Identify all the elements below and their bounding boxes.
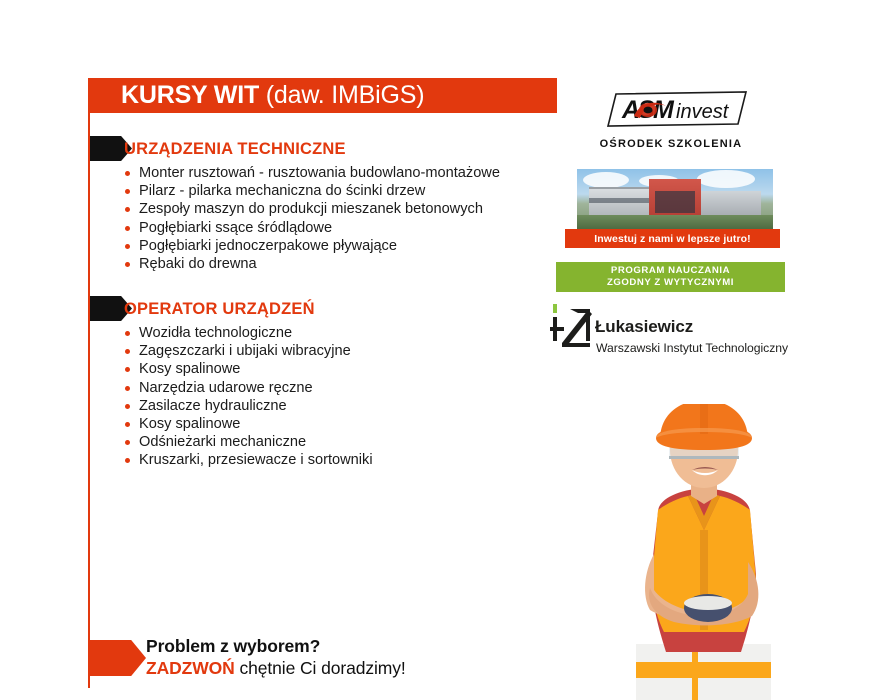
- section-urzadzenia-techniczne: URZĄDZENIA TECHNICZNE Monter rusztowań -…: [124, 140, 500, 273]
- page-title: KURSY WIT (daw. IMBiGS): [88, 81, 424, 110]
- list-item: Rębaki do drewna: [124, 255, 500, 273]
- list-item: Pogłębiarki ssące śródlądowe: [124, 219, 500, 237]
- lukasiewicz-logo: Łukasiewicz Warszawski Instytut Technolo…: [548, 303, 798, 363]
- list-item: Kosy spalinowe: [124, 415, 373, 433]
- svg-text:invest: invest: [676, 101, 730, 123]
- program-badge-line1: PROGRAM NAUCZANIA: [611, 265, 730, 277]
- list-item: Pilarz - pilarka mechaniczna do ścinki d…: [124, 182, 500, 200]
- cta-line2-rest: chętnie Ci doradzimy!: [235, 658, 406, 678]
- program-badge-line2: ZGODNY Z WYTYCZNYMI: [607, 277, 734, 289]
- lukasiewicz-name: Łukasiewicz: [595, 317, 693, 337]
- list-item: Narzędzia udarowe ręczne: [124, 379, 373, 397]
- lukasiewicz-subtitle: Warszawski Instytut Technologiczny: [596, 341, 788, 355]
- asm-invest-logo-icon: A S M invest: [600, 90, 750, 130]
- program-badge: PROGRAM NAUCZANIA ZGODNY Z WYTYCZNYMI: [556, 262, 785, 292]
- photo-banner-text: Inwestuj z nami w lepsze jutro!: [594, 233, 751, 245]
- cta-highlight: ZADZWOŃ: [146, 658, 235, 678]
- cta-arrow-icon: [89, 640, 146, 676]
- cta-line2: ZADZWOŃ chętnie Ci doradzimy!: [146, 658, 406, 679]
- list-item: Kruszarki, przesiewacze i sortowniki: [124, 451, 373, 469]
- list-item: Zasilacze hydrauliczne: [124, 397, 373, 415]
- poster-canvas: KURSY WIT (daw. IMBiGS) URZĄDZENIA TECHN…: [0, 0, 871, 700]
- list-item: Pogłębiarki jednoczerpakowe pływające: [124, 237, 500, 255]
- lukasiewicz-mark-icon: [548, 303, 596, 348]
- list-item: Kosy spalinowe: [124, 360, 373, 378]
- building-photo: [577, 169, 773, 229]
- photo-banner: Inwestuj z nami w lepsze jutro!: [565, 229, 780, 248]
- section-operator-urzadzen: OPERATOR URZĄDZEŃ Wozidła technologiczne…: [124, 300, 373, 470]
- page-title-bold: KURSY WIT: [121, 81, 259, 109]
- construction-worker-photo: [596, 404, 871, 700]
- header-bar: KURSY WIT (daw. IMBiGS): [88, 78, 557, 113]
- list-item: Odśnieżarki mechaniczne: [124, 433, 373, 451]
- cta-block: Problem z wyborem? ZADZWOŃ chętnie Ci do…: [146, 636, 406, 679]
- section-title: URZĄDZENIA TECHNICZNE: [124, 140, 500, 159]
- list-item: Zespoły maszyn do produkcji mieszanek be…: [124, 200, 500, 218]
- list-item: Monter rusztowań - rusztowania budowlano…: [124, 164, 500, 182]
- list-item: Zagęszczarki i ubijaki wibracyjne: [124, 342, 373, 360]
- page-title-rest: (daw. IMBiGS): [266, 81, 425, 109]
- asm-subtitle: OŚRODEK SZKOLENIA: [591, 138, 751, 150]
- section-title: OPERATOR URZĄDZEŃ: [124, 300, 373, 319]
- list-item: Wozidła technologiczne: [124, 324, 373, 342]
- section-list: Monter rusztowań - rusztowania budowlano…: [124, 164, 500, 273]
- section-list: Wozidła technologiczne Zagęszczarki i ub…: [124, 324, 373, 470]
- left-vertical-rule: [88, 78, 90, 688]
- cta-line1: Problem z wyborem?: [146, 636, 406, 657]
